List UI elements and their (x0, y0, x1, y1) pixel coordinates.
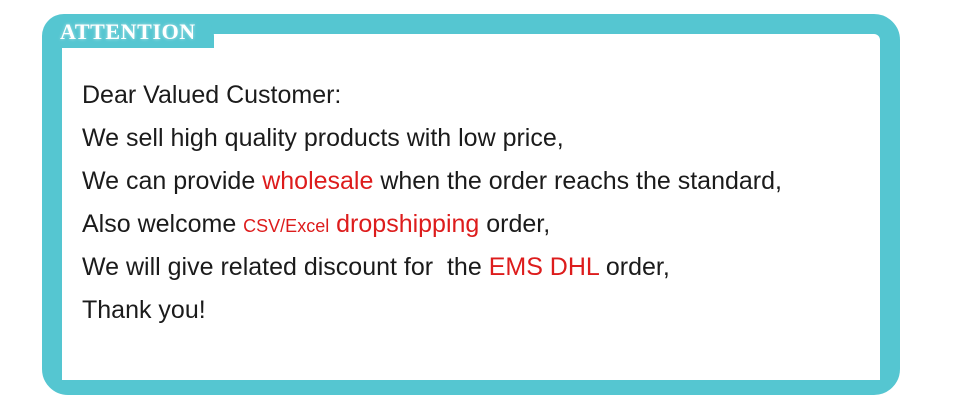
message-text: We will give related discount for the (82, 253, 489, 281)
message-line-greeting: Dear Valued Customer: (82, 74, 872, 117)
message-highlight: CSV/Excel (243, 216, 329, 236)
attention-badge: ATTENTION (42, 14, 214, 48)
message-text: We sell high quality products with low p… (82, 124, 564, 152)
attention-message-body: Dear Valued Customer:We sell high qualit… (82, 74, 872, 332)
attention-banner: ATTENTION Dear Valued Customer:We sell h… (0, 0, 960, 400)
message-text: when the order reachs the standard, (373, 167, 782, 195)
message-line-closing: Thank you! (82, 289, 872, 332)
message-highlight: dropshipping (336, 210, 479, 238)
message-line-dropshipping: Also welcome CSV/Excel dropshipping orde… (82, 203, 872, 246)
attention-badge-label: ATTENTION (60, 19, 196, 45)
message-text: We can provide (82, 167, 262, 195)
message-line-discount-shipping: We will give related discount for the EM… (82, 246, 872, 289)
message-text: Also welcome (82, 210, 243, 238)
message-text: Dear Valued Customer: (82, 81, 341, 109)
message-highlight: EMS DHL (489, 253, 599, 281)
message-text: order, (599, 253, 670, 281)
message-line-wholesale: We can provide wholesale when the order … (82, 160, 872, 203)
message-line-quality-price: We sell high quality products with low p… (82, 117, 872, 160)
message-highlight: wholesale (262, 167, 373, 195)
message-text: order, (479, 210, 550, 238)
message-text: Thank you! (82, 296, 206, 324)
